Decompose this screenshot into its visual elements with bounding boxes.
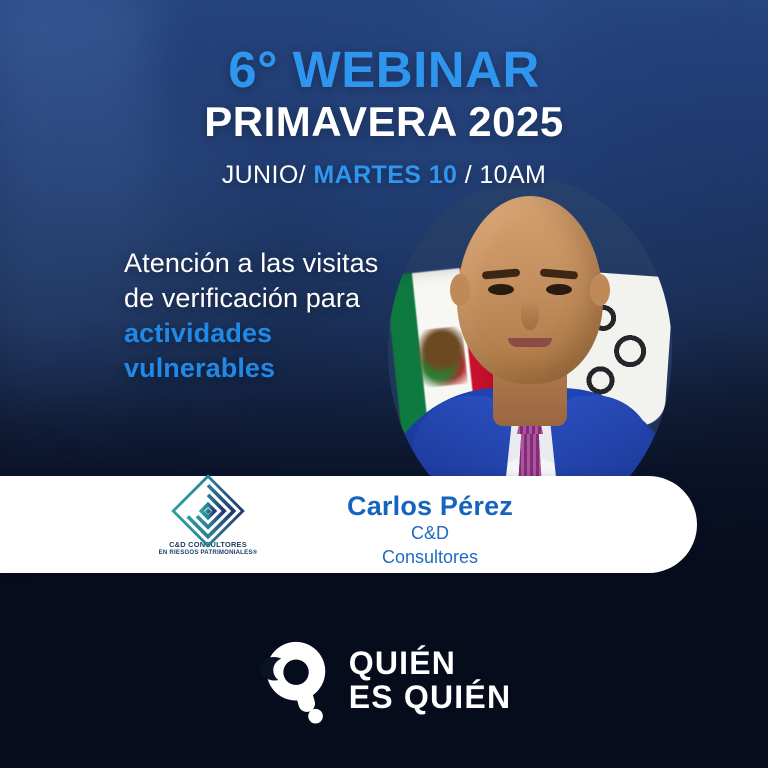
speaker-org-line-2: Consultores — [300, 547, 560, 568]
webinar-poster: 6° WEBINAR PRIMAVERA 2025 JUNIO/ MARTES … — [0, 0, 768, 768]
header-block: 6° WEBINAR PRIMAVERA 2025 JUNIO/ MARTES … — [0, 44, 768, 190]
eye-left — [488, 284, 514, 295]
webinar-title: 6° WEBINAR — [0, 44, 768, 95]
webinar-season: PRIMAVERA 2025 — [0, 98, 768, 145]
quien-es-quien-logo: QUIÉN ES QUIÉN — [0, 638, 768, 724]
mouth — [508, 338, 552, 347]
date-time: / 10AM — [465, 161, 547, 189]
date-month: JUNIO/ — [222, 161, 306, 189]
speaker-photo — [385, 178, 675, 526]
company-logo: C&D CONSULTORES EN RIESGOS PATRIMONIALES… — [150, 484, 266, 570]
topic-line-3: actividades — [124, 316, 378, 351]
speaker-name: Carlos Pérez — [300, 492, 560, 520]
ear-left — [450, 274, 470, 306]
webinar-datetime: JUNIO/ MARTES 10 / 10AM — [0, 161, 768, 190]
quien-q-mark-icon — [257, 638, 335, 724]
topic-line-1: Atención a las visitas — [124, 246, 378, 281]
topic-line-4: vulnerables — [124, 351, 378, 386]
quien-es-quien-wordmark: QUIÉN ES QUIÉN — [349, 647, 512, 714]
date-day: MARTES 10 — [313, 161, 457, 189]
quien-line-2: ES QUIÉN — [349, 681, 512, 715]
company-logo-tagline: EN RIESGOS PATRIMONIALES® — [159, 549, 258, 556]
quien-line-1: QUIÉN — [349, 647, 512, 681]
ear-right — [590, 274, 610, 306]
speaker-photo-mask — [385, 178, 675, 526]
speaker-org-line-1: C&D — [300, 523, 560, 544]
nose — [521, 300, 539, 330]
cd-maze-logo-icon — [171, 474, 245, 548]
topic-line-2: de verificación para — [124, 281, 378, 316]
topic-block: Atención a las visitas de verificación p… — [124, 246, 378, 386]
eye-right — [546, 284, 572, 295]
flag-eagle-emblem — [416, 326, 468, 388]
speaker-info: Carlos Pérez C&D Consultores — [300, 492, 560, 568]
